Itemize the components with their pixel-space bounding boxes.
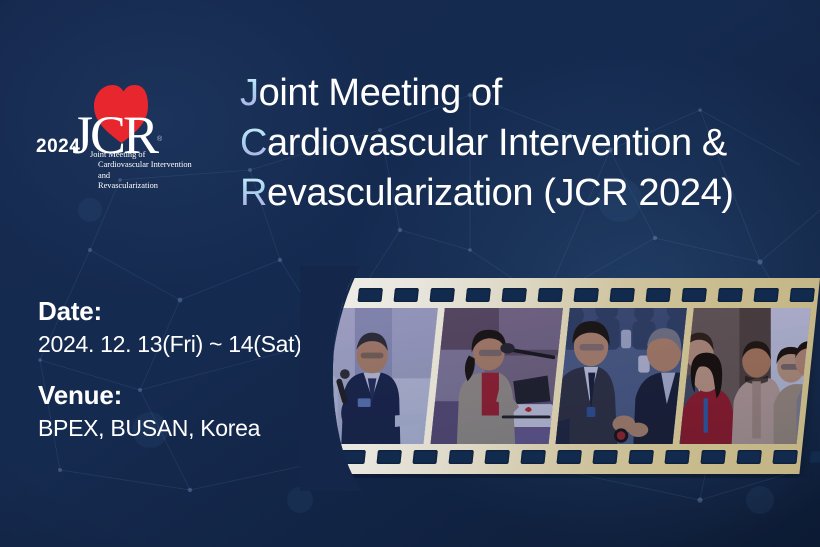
filmstrip-sprocket-hole [448, 450, 473, 464]
page-title: Joint Meeting of Cardiovascular Interven… [240, 68, 800, 218]
filmstrip-sprocket-hole [628, 450, 653, 464]
title-line-2: Cardiovascular Intervention & [240, 118, 800, 168]
filmstrip-sprocket-hole [700, 450, 725, 464]
logo-subtitle-line-1: Joint Meeting of [90, 150, 200, 160]
filmstrip-sprocket-hole [645, 288, 670, 302]
filmstrip-sprocket-hole [664, 450, 689, 464]
title-line-3-rest: evascularization (JCR 2024) [267, 172, 734, 214]
filmstrip-sprocket-hole [412, 450, 437, 464]
filmstrip-sprocket-hole [520, 450, 545, 464]
filmstrip-sprocket-hole [321, 288, 346, 302]
filmstrip-sprocket-hole [573, 288, 598, 302]
logo-subtitle-line-2: Cardiovascular Intervention and [90, 160, 200, 181]
photo-tint-overlay [318, 308, 438, 444]
filmstrip-sprocket-hole [772, 450, 797, 464]
filmstrip-sprocket-hole [429, 288, 454, 302]
title-line-2-rest: ardiovascular Intervention & [267, 122, 727, 164]
filmstrip-body [318, 278, 820, 474]
photo-tint-overlay [555, 308, 687, 444]
filmstrip-sprockets-top [318, 284, 819, 306]
title-line-1-capital: J [240, 72, 259, 114]
filmstrip-sprocket-hole [717, 288, 742, 302]
title-line-2-capital: C [240, 122, 267, 164]
filmstrip-frame [431, 308, 563, 444]
filmstrip-sprocket-hole [808, 450, 820, 464]
photo-tint-overlay [431, 308, 563, 444]
filmstrip-frames [318, 308, 811, 444]
title-line-1: Joint Meeting of [240, 68, 800, 118]
filmstrip-sprocket-hole [681, 288, 706, 302]
filmstrip-sprocket-hole [609, 288, 634, 302]
filmstrip-sprocket-hole [501, 288, 526, 302]
event-details: Date: 2024. 12. 13(Fri) ~ 14(Sat) Venue:… [38, 296, 302, 442]
filmstrip-frame [679, 308, 811, 444]
title-line-1-rest: oint Meeting of [259, 72, 502, 114]
venue-label: Venue: [38, 380, 302, 411]
venue-value: BPEX, BUSAN, Korea [38, 415, 302, 442]
logo-subtitle-line-3: Revascularization [90, 181, 200, 191]
title-line-3-capital: R [240, 172, 267, 214]
conference-poster: 2024 JCR ® Joint Meeting of Cardiovascul… [0, 0, 820, 547]
date-label: Date: [38, 296, 302, 327]
filmstrip-sprocket-hole [556, 450, 581, 464]
filmstrip-frame [318, 308, 438, 444]
filmstrip-frame [555, 308, 687, 444]
filmstrip-sprocket-hole [753, 288, 778, 302]
photo-tint-overlay [679, 308, 811, 444]
date-value: 2024. 12. 13(Fri) ~ 14(Sat) [38, 331, 302, 358]
filmstrip [318, 278, 820, 478]
filmstrip-sprocket-hole [318, 450, 330, 464]
title-line-3: Revascularization (JCR 2024) [240, 168, 800, 218]
jcr-logo: 2024 JCR ® Joint Meeting of Cardiovascul… [34, 80, 194, 190]
registered-mark-icon: ® [157, 136, 162, 143]
logo-subtitle: Joint Meeting of Cardiovascular Interven… [90, 150, 200, 191]
filmstrip-sprocket-hole [393, 288, 418, 302]
filmstrip-sprocket-hole [789, 288, 814, 302]
filmstrip-sprocket-hole [484, 450, 509, 464]
filmstrip-sprocket-hole [736, 450, 761, 464]
filmstrip-sprockets-bottom [318, 446, 802, 468]
filmstrip-sprocket-hole [592, 450, 617, 464]
filmstrip-sprocket-hole [376, 450, 401, 464]
filmstrip-sprocket-hole [340, 450, 365, 464]
filmstrip-sprocket-hole [357, 288, 382, 302]
filmstrip-sprocket-hole [465, 288, 490, 302]
filmstrip-sprocket-hole [537, 288, 562, 302]
